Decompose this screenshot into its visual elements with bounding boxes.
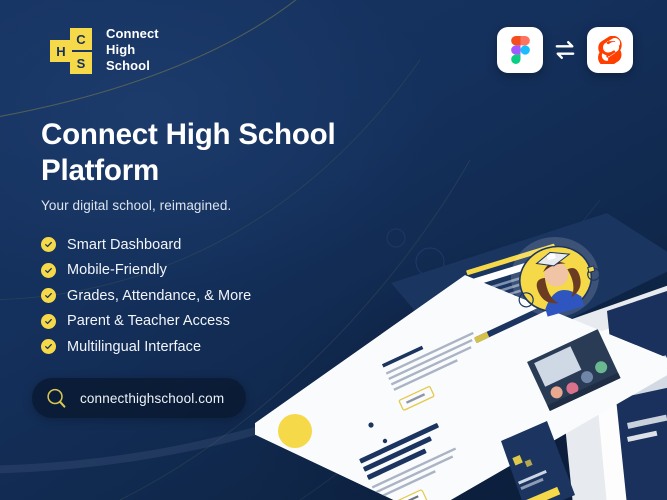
swap-arrows-icon bbox=[554, 40, 576, 60]
logo-word-line-3: School bbox=[106, 58, 159, 74]
logo-mark: C H S bbox=[48, 24, 94, 76]
list-item: Parent & Teacher Access bbox=[41, 309, 251, 335]
list-item: Mobile-Friendly bbox=[41, 258, 251, 284]
check-circle-icon bbox=[41, 263, 56, 278]
logo-square-s: S bbox=[70, 52, 92, 74]
svelte-icon bbox=[598, 36, 622, 64]
svelte-badge[interactable] bbox=[587, 27, 633, 73]
feature-label: Parent & Teacher Access bbox=[67, 313, 230, 329]
check-circle-icon bbox=[41, 314, 56, 329]
hero-copy: Connect High School Platform Your digita… bbox=[41, 117, 381, 213]
logo-square-c: C bbox=[70, 28, 92, 50]
list-item: Multilingual Interface bbox=[41, 334, 251, 360]
website-mockup-collage bbox=[255, 205, 667, 500]
feature-label: Multilingual Interface bbox=[67, 339, 201, 355]
feature-label: Smart Dashboard bbox=[67, 237, 181, 253]
tech-stack-badges bbox=[497, 27, 633, 73]
list-item: Smart Dashboard bbox=[41, 232, 251, 258]
page-title: Connect High School Platform bbox=[41, 117, 381, 188]
brand-logo: C H S Connect High School bbox=[48, 24, 159, 76]
check-circle-icon bbox=[41, 339, 56, 354]
figma-badge[interactable] bbox=[497, 27, 543, 73]
check-circle-icon bbox=[41, 237, 56, 252]
logo-wordmark: Connect High School bbox=[106, 26, 159, 74]
website-url-text: connecthighschool.com bbox=[80, 391, 224, 406]
feature-label: Grades, Attendance, & More bbox=[67, 288, 251, 304]
search-icon bbox=[44, 386, 69, 411]
check-circle-icon bbox=[41, 288, 56, 303]
list-item: Grades, Attendance, & More bbox=[41, 283, 251, 309]
banner-header: C H S Connect High School bbox=[0, 0, 667, 100]
figma-icon bbox=[511, 36, 530, 64]
logo-square-h: H bbox=[50, 40, 72, 62]
hero-title-line-2: Platform bbox=[41, 154, 159, 187]
mockup-pages bbox=[255, 205, 667, 500]
feature-label: Mobile-Friendly bbox=[67, 262, 167, 278]
feature-list: Smart Dashboard Mobile-Friendly Grades, … bbox=[41, 232, 251, 360]
logo-word-line-2: High bbox=[106, 42, 159, 58]
promo-banner: C H S Connect High School bbox=[0, 0, 667, 500]
logo-word-line-1: Connect bbox=[106, 26, 159, 42]
hero-title-line-1: Connect High School bbox=[41, 118, 335, 151]
website-url-button[interactable]: connecthighschool.com bbox=[32, 378, 246, 418]
